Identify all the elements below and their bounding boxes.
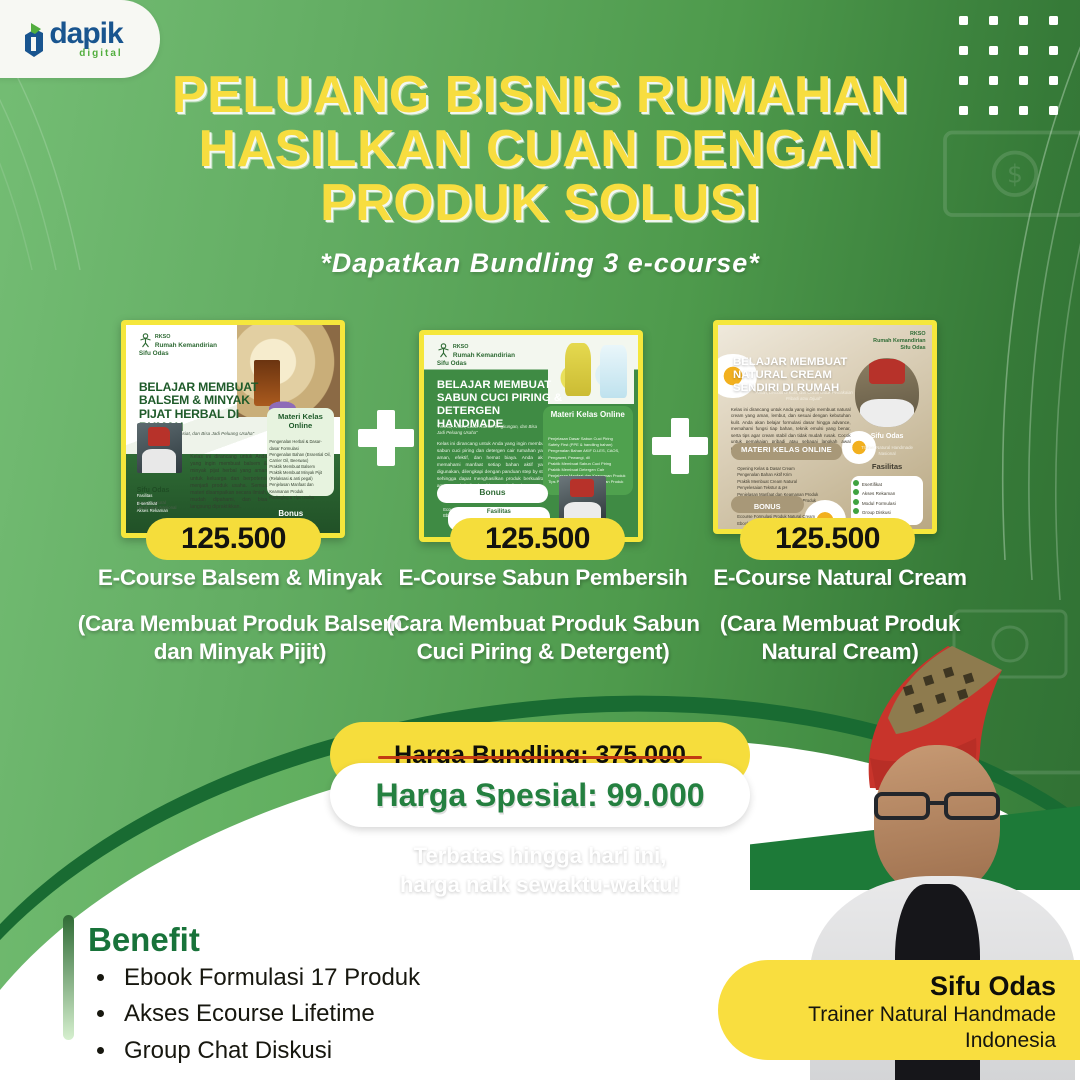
presenter-face bbox=[874, 745, 1000, 895]
card3-fasilitas-item: Esertifikat bbox=[862, 482, 882, 487]
card3-trainer-coat bbox=[860, 399, 914, 427]
card3-org-header: RKSO Rumah Kemandirian Sifu Odas bbox=[855, 331, 926, 352]
card1-org-line1: RKSO bbox=[155, 334, 171, 340]
card3-person-name: Sifu Odas bbox=[855, 433, 919, 440]
card2-org-line3: Sifu Odas bbox=[437, 360, 467, 367]
card2-materi-heading: Materi Kelas Online bbox=[543, 410, 633, 420]
card3-fasilitas-item: Group Diskusi bbox=[862, 510, 891, 515]
urgency-note: Terbatas hingga hari ini, harga naik sew… bbox=[330, 842, 750, 899]
card3-org-line1: RKSO bbox=[910, 331, 926, 337]
course-card-sabun[interactable]: RKSO Rumah Kemandirian Sifu Odas BELAJAR… bbox=[419, 330, 643, 542]
card3-trainer-hat bbox=[869, 359, 905, 384]
card1-trainer-hat bbox=[148, 427, 170, 446]
presenter-role-line-1: Trainer Natural Handmade bbox=[718, 1002, 1056, 1028]
card3-fasilitas-item: Modul Formulasi bbox=[862, 501, 896, 506]
course-label-balsem: E-Course Balsem & Minyak bbox=[60, 565, 420, 591]
card3-org-line2: Rumah Kemandirian bbox=[873, 338, 925, 344]
card3-title: BELAJAR MEMBUAT NATURAL CREAM SENDIRI DI… bbox=[733, 356, 857, 395]
course-label-sabun: E-Course Sabun Pembersih bbox=[378, 565, 708, 591]
card1-materi-item: Pengenalan Herbal & Dasar-dasar Formulas… bbox=[269, 439, 331, 451]
logo-wordmark: dapik bbox=[49, 20, 122, 47]
dapik-leaf-icon bbox=[21, 21, 47, 59]
card3-quote: "Aman, Lembut di Kulit, dan Cocok untuk … bbox=[752, 390, 855, 402]
card2-org-line2: Rumah Kemandirian bbox=[453, 352, 515, 359]
card1-trainer-photo bbox=[137, 423, 182, 473]
benefit-item: Ebook Formulasi 17 Produk bbox=[118, 960, 548, 996]
card2-fasilitas-heading: Fasilitas bbox=[448, 509, 551, 515]
course-sublabel-balsem: (Cara Membuat Produk Balsem dan Minyak P… bbox=[60, 610, 420, 666]
course-card-cream[interactable]: RKSO Rumah Kemandirian Sifu Odas BELAJAR… bbox=[713, 320, 937, 534]
price-badge-cream: 125.500 bbox=[740, 518, 915, 560]
presenter-glasses-icon bbox=[872, 790, 1002, 820]
course-sublabel-sabun: (Cara Membuat Produk Sabun Cuci Piring &… bbox=[378, 610, 708, 666]
card1-materi-list: Pengenalan Herbal & Dasar-dasar Formulas… bbox=[269, 439, 331, 500]
card2-bonus-heading: Bonus bbox=[437, 487, 548, 497]
check-icon bbox=[853, 499, 859, 505]
price-badge-balsem: 125.500 bbox=[146, 518, 321, 560]
course-card-balsem-body: RKSO Rumah Kemandirian Sifu Odas BELAJAR… bbox=[126, 325, 340, 533]
check-icon bbox=[853, 480, 859, 486]
card1-org-line3: Sifu Odas bbox=[139, 350, 169, 357]
headline-line-2: HASILKAN CUAN DENGAN bbox=[60, 122, 1020, 176]
card3-trainer-photo bbox=[855, 358, 919, 427]
card2-quote: "Hemat, Aman, Lebih Ramah Lingkungan, da… bbox=[437, 424, 544, 436]
special-price-label: Harga Spesial: 99.000 bbox=[375, 777, 704, 814]
card3-bonus-heading: BONUS bbox=[731, 502, 804, 511]
card3-fasilitas-list: Esertifikat Akses Rekaman Modul Formulas… bbox=[853, 480, 919, 518]
presenter-name: Sifu Odas bbox=[718, 972, 1056, 1002]
card1-paragraph: Kelas ini dirancang untuk Anda yang ingi… bbox=[190, 454, 267, 512]
card2-materi-item: Pengenalan Bahan AKIF D.LES, CAOS, Penga… bbox=[548, 448, 629, 460]
card2-org-line1: RKSO bbox=[453, 344, 469, 350]
card1-fasilitas-item: Akses Rekaman bbox=[137, 507, 201, 514]
card3-materi-heading: MATERI KELAS ONLINE bbox=[731, 445, 842, 454]
benefit-item: Akses Ecourse Lifetime bbox=[118, 996, 548, 1032]
benefit-item: Group Chat Diskusi bbox=[118, 1033, 548, 1069]
headline-line-3: PRODUK SOLUSI bbox=[60, 176, 1020, 230]
benefit-accent-bar bbox=[63, 915, 74, 1040]
sub-headline: *Dapatkan Bundling 3 e-course* bbox=[60, 248, 1020, 279]
course-label-cream: E-Course Natural Cream bbox=[690, 565, 990, 591]
course-card-balsem[interactable]: RKSO Rumah Kemandirian Sifu Odas BELAJAR… bbox=[121, 320, 345, 538]
rkso-person-icon bbox=[437, 343, 450, 358]
price-badge-sabun: 125.500 bbox=[450, 518, 625, 560]
special-price-badge: Harga Spesial: 99.000 bbox=[330, 763, 750, 827]
card1-trainer-coat bbox=[142, 449, 176, 473]
card3-fasilitas-item: Akses Rekaman bbox=[862, 491, 895, 496]
card1-org-line2: Rumah Kemandirian bbox=[155, 342, 217, 349]
card1-materi-item: Praktik Membuat Minyak Pijit (Relaksasi … bbox=[269, 470, 331, 482]
promo-poster: $ $ dapik digital bbox=[0, 0, 1080, 1080]
check-icon bbox=[853, 489, 859, 495]
card1-materi-item: Penjelasan Manfaat dan Keamanan Produk bbox=[269, 482, 331, 494]
urgency-line-1: Terbatas hingga hari ini, bbox=[330, 842, 750, 871]
card1-materi-heading: Materi Kelas Online bbox=[267, 412, 333, 430]
card1-fasilitas-item: E-sertifikat bbox=[137, 500, 201, 507]
presenter-name-badge: Sifu Odas Trainer Natural Handmade Indon… bbox=[718, 960, 1080, 1060]
card2-org-header: RKSO Rumah Kemandirian Sifu Odas bbox=[437, 343, 565, 368]
brand-logo: dapik digital bbox=[0, 0, 160, 78]
card3-fasilitas-heading: Fasilitas bbox=[855, 462, 919, 471]
course-card-cream-body: RKSO Rumah Kemandirian Sifu Odas BELAJAR… bbox=[718, 325, 932, 529]
check-icon bbox=[853, 508, 859, 514]
page-headline: PELUANG BISNIS RUMAHAN HASILKAN CUAN DEN… bbox=[60, 68, 1020, 230]
presenter-role-line-2: Indonesia bbox=[718, 1028, 1056, 1054]
benefit-list: Ebook Formulasi 17 Produk Akses Ecourse … bbox=[118, 960, 548, 1069]
course-card-sabun-body: RKSO Rumah Kemandirian Sifu Odas BELAJAR… bbox=[424, 335, 638, 537]
headline-line-1: PELUANG BISNIS RUMAHAN bbox=[60, 68, 1020, 122]
plus-separator-icon bbox=[652, 418, 708, 474]
rkso-person-icon bbox=[139, 333, 152, 348]
card1-fasilitas: Fasilitas E-sertifikat Akses Rekaman bbox=[137, 492, 201, 514]
card1-org-header: RKSO Rumah Kemandirian Sifu Odas bbox=[139, 333, 267, 358]
card1-materi-item: Packaging & Tips Usaha bbox=[269, 495, 331, 501]
urgency-line-2: harga naik sewaktu-waktu! bbox=[330, 871, 750, 900]
benefit-heading: Benefit bbox=[88, 921, 200, 959]
card3-person-role: Trainer Natural Handmade Nasional bbox=[855, 445, 919, 457]
card3-org-line3: Sifu Odas bbox=[900, 345, 925, 351]
card1-fasilitas-heading: Fasilitas bbox=[137, 492, 201, 499]
plus-separator-icon bbox=[358, 410, 414, 466]
card1-materi-item: Pengenalan Bahan (Essential Oil, Carrier… bbox=[269, 452, 331, 464]
card2-trainer-hat bbox=[570, 479, 594, 496]
card2-detergent-bottle-icon bbox=[600, 345, 628, 398]
